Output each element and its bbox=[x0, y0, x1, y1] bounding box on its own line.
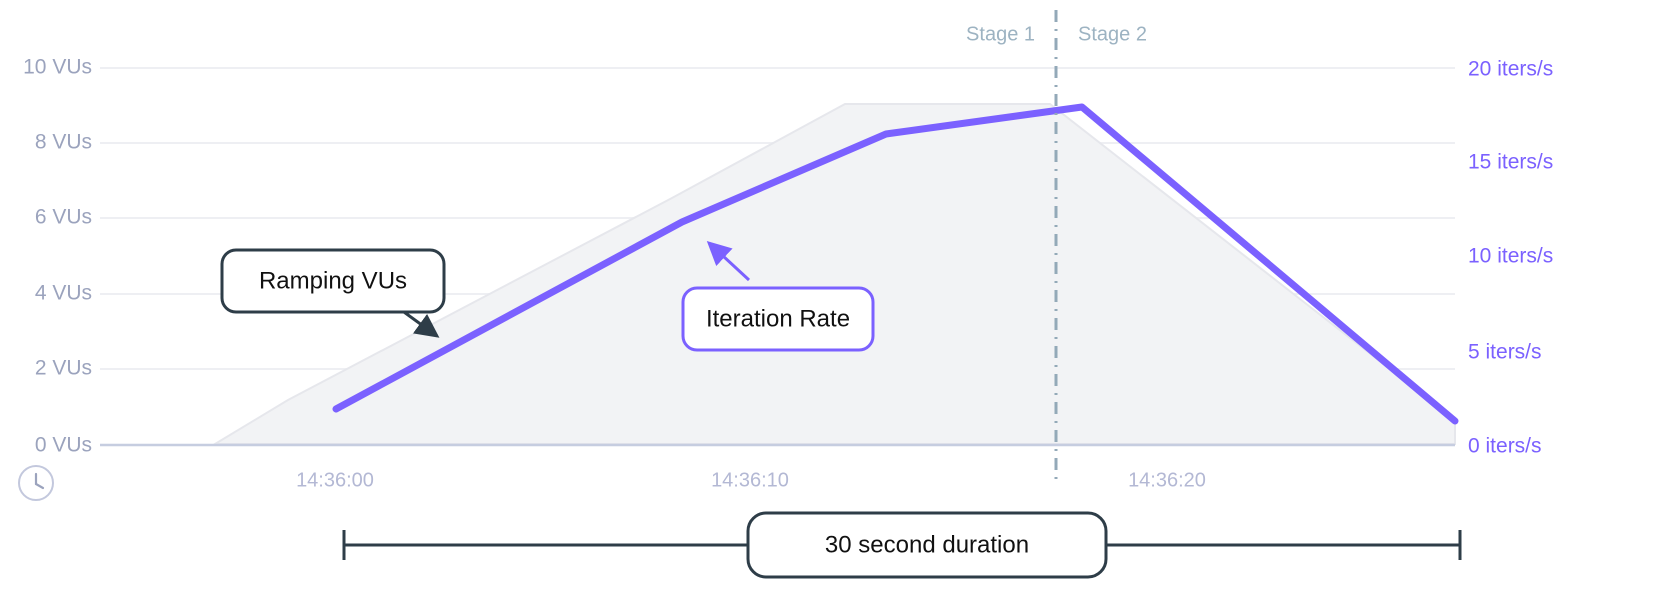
x-axis-labels: 14:36:00 14:36:10 14:36:20 bbox=[296, 469, 1206, 491]
x-tick: 14:36:20 bbox=[1128, 469, 1206, 491]
y-left-tick: 8 VUs bbox=[35, 131, 92, 154]
ramping-vus-callout[interactable]: Ramping VUs bbox=[222, 250, 444, 312]
stage-label-1: Stage 1 bbox=[966, 23, 1035, 45]
y-right-tick: 10 iters/s bbox=[1468, 245, 1553, 268]
y-left-tick: 6 VUs bbox=[35, 206, 92, 229]
ramping-vus-callout-label: Ramping VUs bbox=[259, 267, 407, 294]
iteration-rate-callout-label: Iteration Rate bbox=[706, 305, 850, 332]
iteration-rate-callout[interactable]: Iteration Rate bbox=[683, 288, 873, 350]
duration-callout-label: 30 second duration bbox=[825, 531, 1029, 558]
y-left-tick: 4 VUs bbox=[35, 282, 92, 305]
y-right-tick: 0 iters/s bbox=[1468, 435, 1542, 458]
x-tick: 14:36:00 bbox=[296, 469, 374, 491]
stage-label-2: Stage 2 bbox=[1078, 23, 1147, 45]
y-right-tick: 15 iters/s bbox=[1468, 151, 1553, 174]
y-right-tick: 20 iters/s bbox=[1468, 58, 1553, 81]
y-axis-right-labels: 20 iters/s 15 iters/s 10 iters/s 5 iters… bbox=[1468, 58, 1553, 458]
y-left-tick: 10 VUs bbox=[23, 56, 92, 79]
chart-canvas: 10 VUs 8 VUs 6 VUs 4 VUs 2 VUs 0 VUs 20 … bbox=[0, 0, 1656, 600]
y-left-tick: 0 VUs bbox=[35, 434, 92, 457]
y-axis-left-labels: 10 VUs 8 VUs 6 VUs 4 VUs 2 VUs 0 VUs bbox=[23, 56, 92, 457]
y-left-tick: 2 VUs bbox=[35, 357, 92, 380]
clock-icon[interactable] bbox=[19, 466, 53, 500]
y-right-tick: 5 iters/s bbox=[1468, 341, 1542, 364]
x-tick: 14:36:10 bbox=[711, 469, 789, 491]
duration-callout[interactable]: 30 second duration bbox=[748, 513, 1106, 577]
chart-svg: 10 VUs 8 VUs 6 VUs 4 VUs 2 VUs 0 VUs 20 … bbox=[0, 0, 1656, 600]
